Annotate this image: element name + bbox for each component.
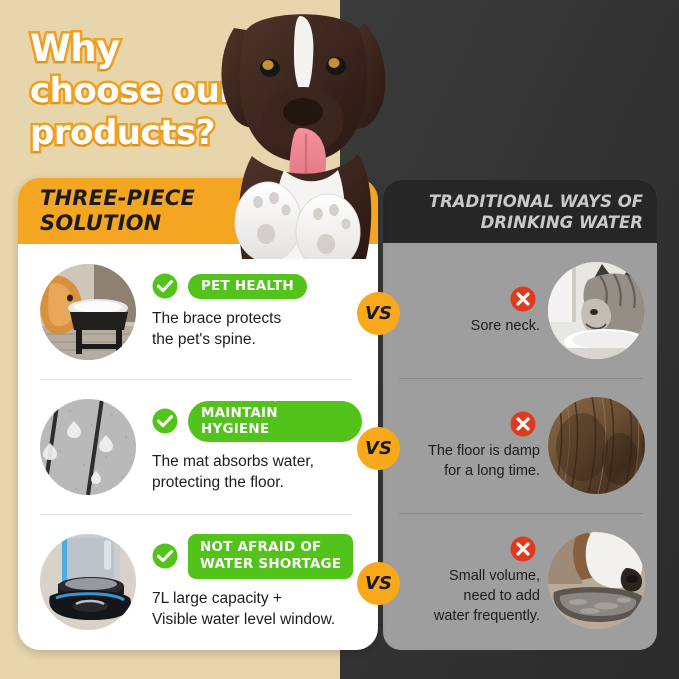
- x-circle-icon: [510, 411, 536, 437]
- solution-row-content: MAINTAIN HYGIENE The mat absorbs water, …: [152, 401, 362, 493]
- vs-badge: VS: [357, 292, 400, 335]
- dog-drinking-from-elevated-bowl-photo: [40, 264, 136, 360]
- check-circle-icon: [152, 543, 178, 569]
- traditional-description: Sore neck.: [471, 316, 540, 336]
- traditional-card: TRADITIONAL WAYS OF DRINKING WATER Sore …: [383, 180, 657, 650]
- traditional-row-content: Small volume, need to add water frequent…: [397, 536, 548, 626]
- infographic-stage: Why choose our products?: [0, 0, 679, 679]
- solution-badge-label: PET HEALTH: [188, 274, 307, 299]
- solution-badge-label: MAINTAIN HYGIENE: [188, 401, 362, 442]
- traditional-row-content: Sore neck.: [397, 286, 548, 336]
- solution-badge-label: NOT AFRAID OF WATER SHORTAGE: [188, 534, 353, 579]
- traditional-row-content: The floor is damp for a long time.: [397, 411, 548, 481]
- hero-title-line-1: Why: [30, 28, 280, 70]
- hero-title-line-2: choose our: [30, 70, 280, 112]
- solution-card-header: THREE-PIECE SOLUTION: [18, 178, 378, 244]
- hero-title-line-3: products?: [30, 112, 280, 154]
- cat-drinking-from-floor-bowl-photo: [548, 262, 645, 359]
- x-circle-icon: [510, 536, 536, 562]
- solution-rows: PET HEALTH The brace protects the pet's …: [18, 244, 378, 649]
- solution-row: MAINTAIN HYGIENE The mat absorbs water, …: [18, 379, 378, 514]
- absorbent-mat-with-water-droplets-photo: [40, 399, 136, 495]
- check-circle-icon: [152, 408, 178, 434]
- traditional-row: Small volume, need to add water frequent…: [383, 513, 657, 648]
- traditional-row: The floor is damp for a long time.: [383, 378, 657, 513]
- traditional-description: Small volume, need to add water frequent…: [434, 566, 540, 626]
- solution-row-content: PET HEALTH The brace protects the pet's …: [152, 273, 362, 350]
- traditional-description: The floor is damp for a long time.: [428, 441, 540, 481]
- vs-badge: VS: [357, 562, 400, 605]
- check-circle-icon: [152, 273, 178, 299]
- damp-wooden-floor-photo: [548, 397, 645, 494]
- hero-title: Why choose our products?: [30, 28, 280, 154]
- solution-card-title: THREE-PIECE SOLUTION: [40, 186, 195, 236]
- dog-drinking-from-small-bowl-photo: [548, 532, 645, 629]
- solution-description: The brace protects the pet's spine.: [152, 308, 362, 350]
- vs-badge: VS: [357, 427, 400, 470]
- solution-row: NOT AFRAID OF WATER SHORTAGE 7L large ca…: [18, 514, 378, 649]
- solution-badge-row: NOT AFRAID OF WATER SHORTAGE: [152, 534, 362, 579]
- solution-description: 7L large capacity + Visible water level …: [152, 588, 362, 630]
- water-fountain-tank-photo: [40, 534, 136, 630]
- traditional-card-header: TRADITIONAL WAYS OF DRINKING WATER: [383, 180, 657, 243]
- solution-card: THREE-PIECE SOLUTION: [18, 178, 378, 650]
- solution-badge-row: PET HEALTH: [152, 273, 362, 299]
- traditional-card-title: TRADITIONAL WAYS OF DRINKING WATER: [429, 191, 643, 233]
- traditional-row: Sore neck.: [383, 243, 657, 378]
- x-circle-icon: [510, 286, 536, 312]
- solution-description: The mat absorbs water, protecting the fl…: [152, 451, 362, 493]
- solution-row: PET HEALTH The brace protects the pet's …: [18, 244, 378, 379]
- solution-row-content: NOT AFRAID OF WATER SHORTAGE 7L large ca…: [152, 534, 362, 630]
- solution-badge-row: MAINTAIN HYGIENE: [152, 401, 362, 442]
